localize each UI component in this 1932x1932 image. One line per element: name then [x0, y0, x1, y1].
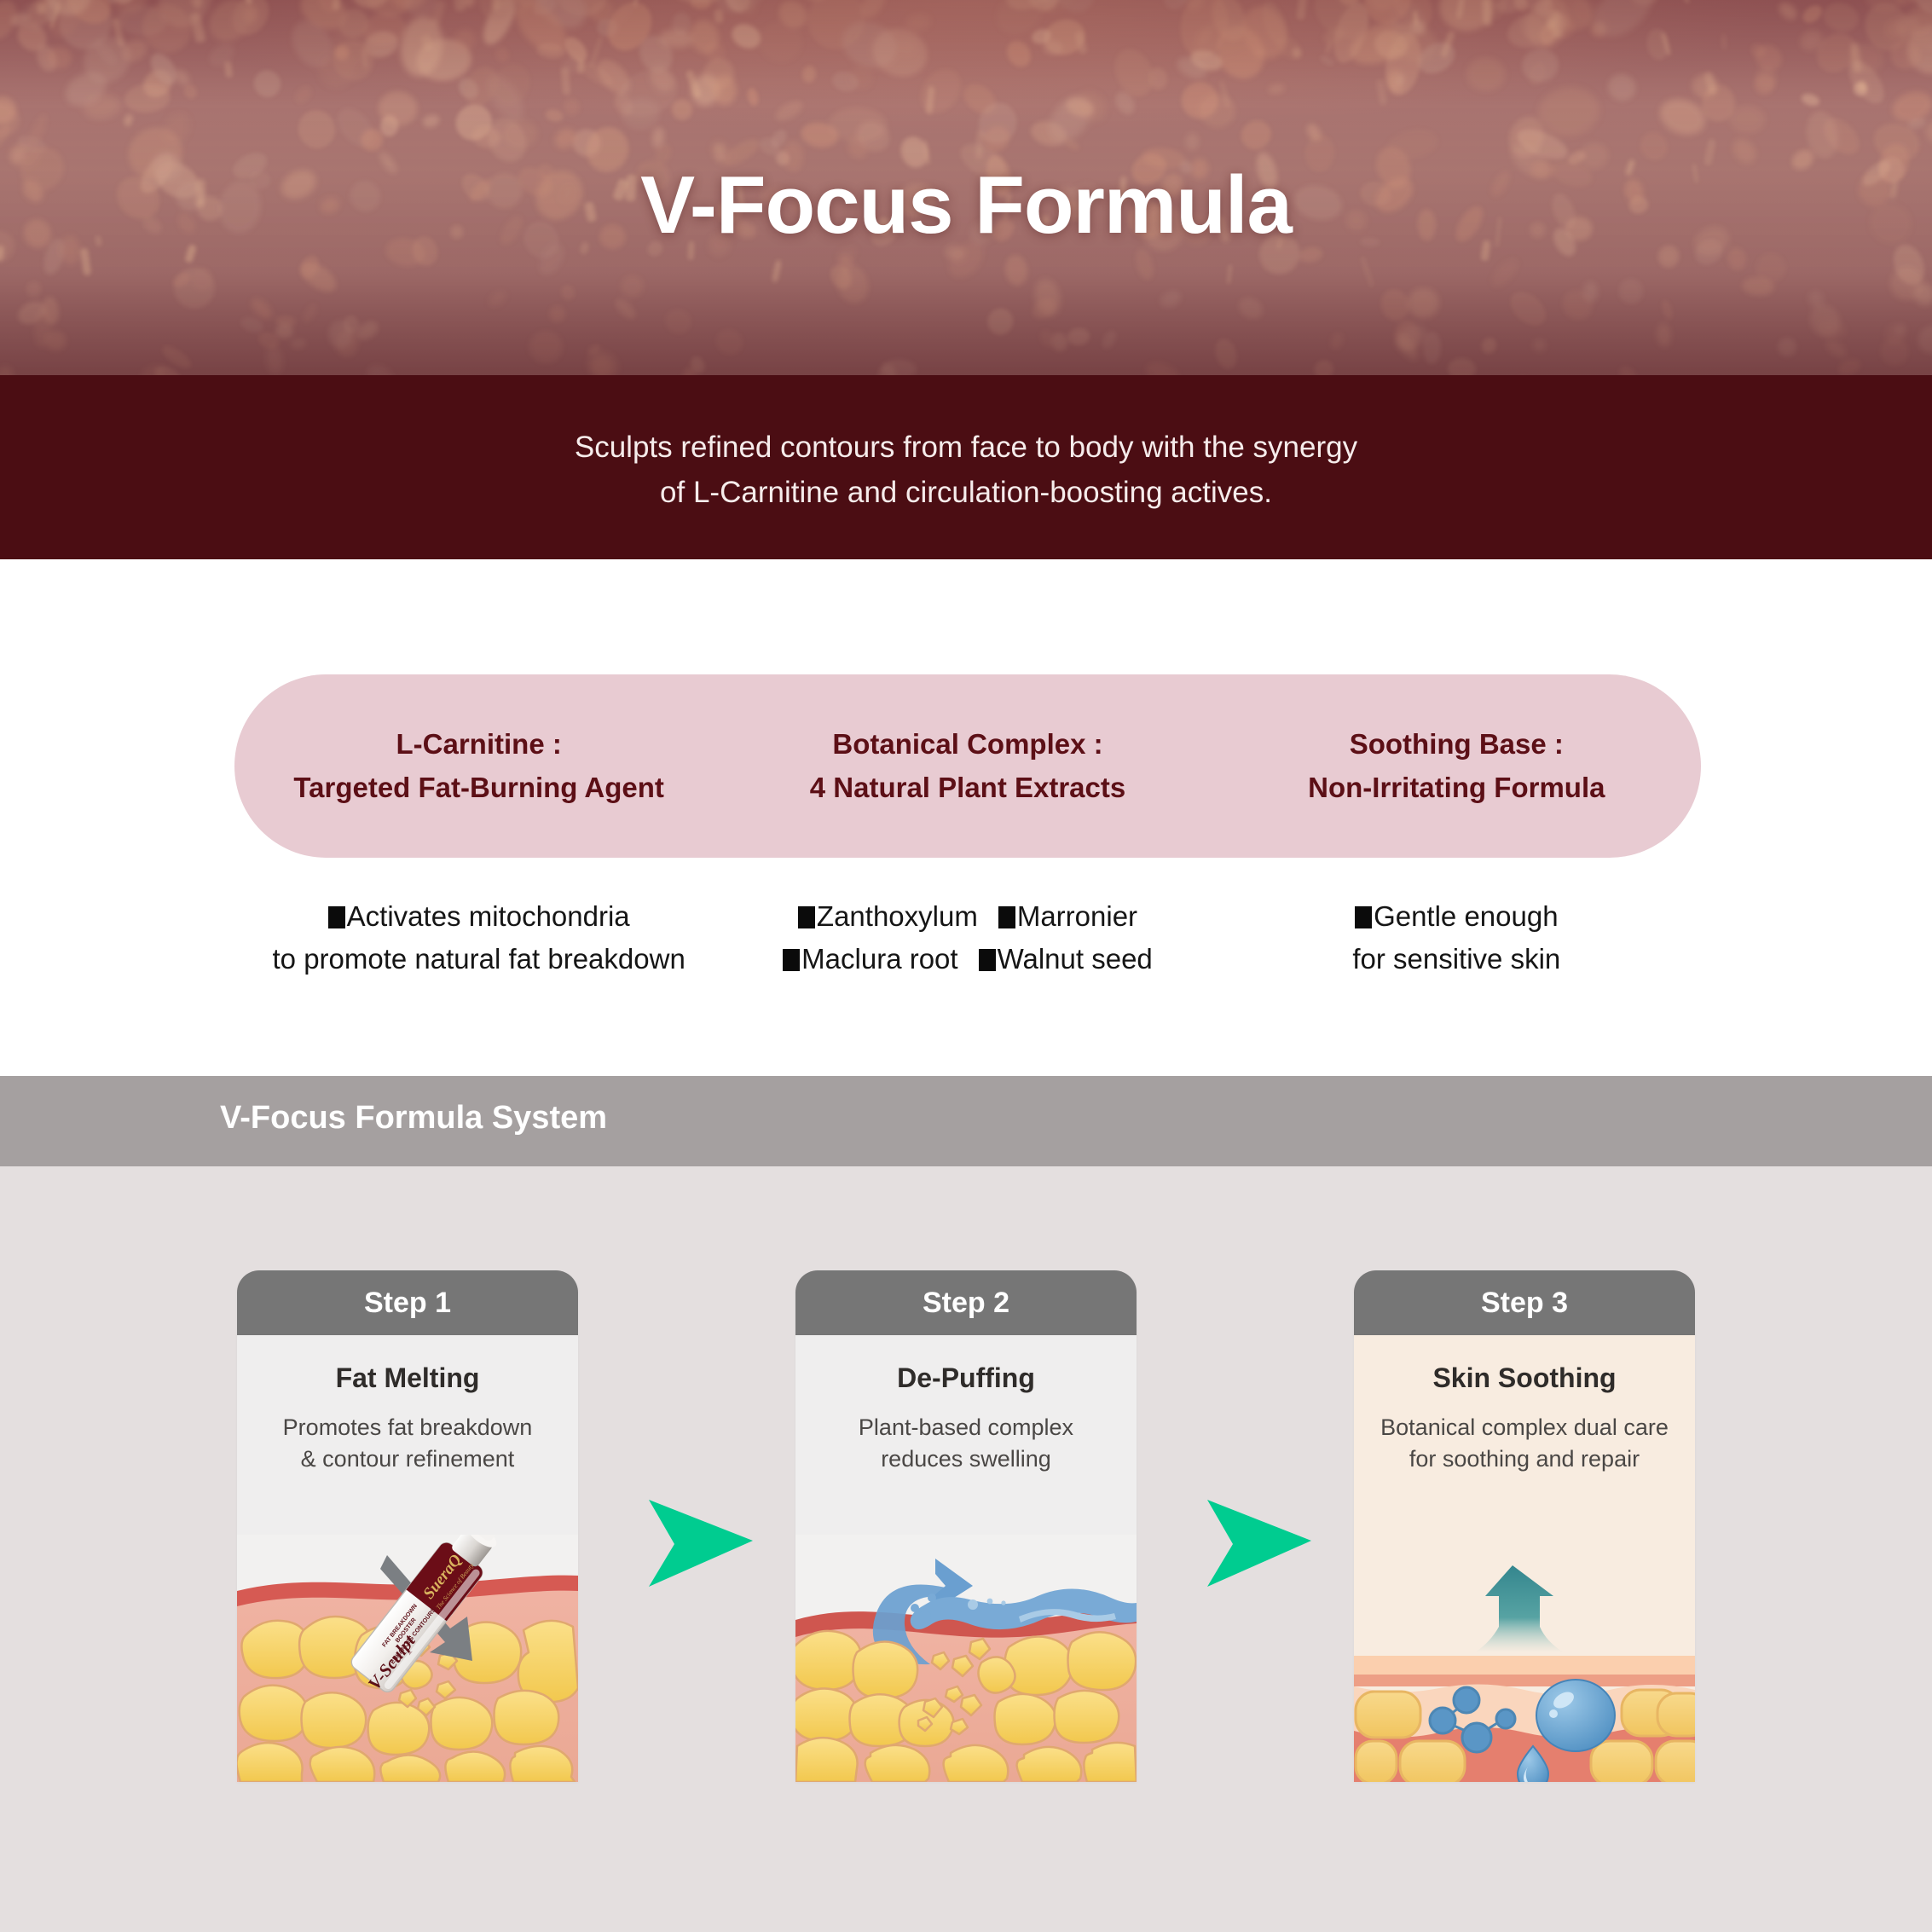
step-card-3-body: Skin Soothing Botanical complex dual car… [1354, 1335, 1695, 1782]
system-section-title: V-Focus Formula System [220, 1100, 607, 1137]
step-card-2-title: De-Puffing [795, 1362, 1137, 1394]
square-bullet-icon [783, 949, 800, 971]
step-card-2-body: De-Puffing Plant-based complex reduces s… [795, 1335, 1137, 1782]
square-bullet-icon [979, 949, 996, 971]
square-bullet-icon [798, 906, 815, 928]
pill-col-3-line-1: Soothing Base : [1350, 728, 1564, 760]
step-card-2-subtitle: Plant-based complex reduces swelling [795, 1412, 1137, 1474]
bullet-text: Maclura root [801, 943, 957, 975]
flow-arrow-1-icon [644, 1496, 755, 1590]
pill-col-1-line-1: L-Carnitine : [396, 728, 562, 760]
step-card-2[interactable]: Step 2 De-Puffing Plant-based complex re… [795, 1270, 1137, 1782]
subtitle-line-2: of L-Carnitine and circulation-boosting … [660, 476, 1272, 509]
step-card-1-sub-line-1: Promotes fat breakdown [283, 1414, 533, 1440]
bullet-column-l-carnitine: Activates mitochondria to promote natura… [234, 895, 723, 980]
system-section-bar: V-Focus Formula System [0, 1076, 1932, 1166]
bullet-text: Marronier [1017, 900, 1137, 932]
step-card-3-title: Skin Soothing [1354, 1362, 1695, 1394]
step-card-3-header: Step 3 [1354, 1270, 1695, 1335]
pill-column-l-carnitine: L-Carnitine : Targeted Fat-Burning Agent [234, 723, 723, 808]
pill-col-1-line-2: Targeted Fat-Burning Agent [234, 766, 723, 809]
skin-cross-section-illustration-3 [1354, 1560, 1695, 1782]
bullet-continuation: for sensitive skin [1352, 938, 1560, 980]
bullet-text: Walnut seed [998, 943, 1153, 975]
bullet-item: Activates mitochondria [328, 895, 630, 938]
subtitle-band: Sculpts refined contours from face to bo… [0, 375, 1932, 559]
pill-col-2-line-1: Botanical Complex : [832, 728, 1102, 760]
key-actives-pill: L-Carnitine : Targeted Fat-Burning Agent… [234, 674, 1701, 858]
square-bullet-icon [1355, 906, 1372, 928]
skin-cross-section-illustration-2 [795, 1535, 1137, 1782]
infographic-page: V-Focus Formula Sculpts refined contours… [0, 0, 1932, 1932]
step-card-1-sub-line-2: & contour refinement [301, 1446, 515, 1472]
step-card-2-header: Step 2 [795, 1270, 1137, 1335]
bullet-column-soothing: Gentle enough for sensitive skin [1212, 895, 1701, 980]
bullet-row-2: Maclura root Walnut seed [783, 938, 1153, 980]
bullet-item: Marronier [998, 895, 1137, 938]
step-card-3[interactable]: Step 3 Skin Soothing Botanical complex d… [1354, 1270, 1695, 1782]
bullet-item: Gentle enough [1355, 895, 1559, 938]
subtitle-text: Sculpts refined contours from face to bo… [0, 425, 1932, 515]
step-card-1-body: Fat Melting Promotes fat breakdown & con… [237, 1335, 578, 1782]
square-bullet-icon [998, 906, 1015, 928]
bullet-item: Walnut seed [979, 938, 1153, 980]
bullet-text: Activates mitochondria [347, 900, 630, 932]
step-card-1-title: Fat Melting [237, 1362, 578, 1394]
subtitle-line-1: Sculpts refined contours from face to bo… [575, 431, 1357, 464]
bullet-column-botanical: Zanthoxylum Marronier Maclura root Walnu… [723, 895, 1212, 980]
pill-column-botanical-complex: Botanical Complex : 4 Natural Plant Extr… [723, 723, 1212, 808]
step-card-3-sub-line-2: for soothing and repair [1409, 1446, 1640, 1472]
pill-col-3-line-2: Non-Irritating Formula [1212, 766, 1701, 809]
skin-cross-section-illustration-1: SueraQ The Science of Beauty FAT BREAKDO… [237, 1535, 578, 1782]
page-title: V-Focus Formula [0, 159, 1932, 252]
actives-detail-row: Activates mitochondria to promote natura… [234, 895, 1701, 980]
bullet-text: Zanthoxylum [817, 900, 978, 932]
step-card-3-subtitle: Botanical complex dual care for soothing… [1354, 1412, 1695, 1474]
bullet-continuation: to promote natural fat breakdown [273, 938, 685, 980]
step-card-1[interactable]: Step 1 Fat Melting Promotes fat breakdow… [237, 1270, 578, 1782]
step-card-2-sub-line-1: Plant-based complex [859, 1414, 1073, 1440]
step-card-1-header: Step 1 [237, 1270, 578, 1335]
pill-column-soothing-base: Soothing Base : Non-Irritating Formula [1212, 723, 1701, 808]
pill-col-2-line-2: 4 Natural Plant Extracts [723, 766, 1212, 809]
flow-arrow-2-icon [1202, 1496, 1313, 1590]
bullet-text: Gentle enough [1374, 900, 1559, 932]
bullet-row-1: Zanthoxylum Marronier [798, 895, 1137, 938]
square-bullet-icon [328, 906, 345, 928]
bullet-item: Maclura root [783, 938, 957, 980]
hero-banner: V-Focus Formula [0, 0, 1932, 375]
bullet-item: Zanthoxylum [798, 895, 978, 938]
step-card-1-subtitle: Promotes fat breakdown & contour refinem… [237, 1412, 578, 1474]
step-card-2-sub-line-2: reduces swelling [881, 1446, 1051, 1472]
step-card-3-sub-line-1: Botanical complex dual care [1380, 1414, 1669, 1440]
